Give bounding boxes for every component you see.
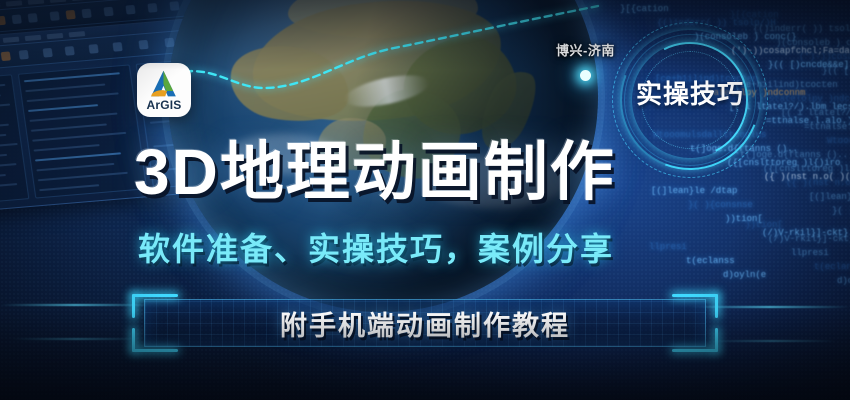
code-line: =ttnalse.l.alo.) concat( [804, 122, 850, 132]
code-line: ({[cnslttoreg )l{)iro [763, 164, 850, 174]
code-line: [( i ltatel?/).lbm lecssem [781, 108, 850, 118]
code-line: }[{cation [620, 4, 669, 14]
arcgis-wordmark: ArGIS [137, 98, 191, 112]
bottom-banner-label: 附手机端动画制作教程 [132, 294, 718, 352]
route-endpoint-marker [580, 70, 591, 81]
page-title: 3D地理动画制作 [134, 140, 734, 204]
badge-label: 实操技巧 [612, 74, 768, 111]
bottom-banner-box: 附手机端动画制作教程 [132, 294, 718, 352]
code-line: d)oyln(e [837, 276, 850, 286]
code-line: (/)V-rkil}]-ckt} wrttmar [768, 234, 850, 244]
poster-canvas: }[{cation{()inderr( )) tsoln/)H)(console… [0, 0, 850, 400]
code-line: llpresi [791, 248, 829, 258]
page-subtitle: 软件准备、实操技巧，案例分享 [138, 233, 728, 265]
code-line: ({ )(nst n.o( )(o. [786, 178, 850, 188]
code-line: )(consoleb ) conc(} [776, 38, 850, 48]
code-line: ))tion[ [745, 220, 783, 230]
arcgis-a-icon [137, 69, 190, 99]
code-line: }(( [)cncde&&e]l (l.thla [822, 66, 850, 76]
app-panel-table [18, 64, 147, 198]
arcgis-logo: ArGIS [137, 63, 191, 117]
code-line: d)oyln(e [723, 270, 766, 280]
code-line: }( ){consnse [832, 206, 850, 216]
code-line: Wtooomulsdallttcoplus [827, 136, 850, 146]
code-line: (')-))cosapfchcl;Fa=data6ad{ [799, 52, 850, 62]
code-line: [(]lean}le /dtap [809, 192, 850, 202]
code-line: ){statelolpy )ndconnm [758, 94, 850, 104]
route-label: 博兴-济南 [556, 40, 615, 59]
code-line: t(eclanss [814, 262, 850, 272]
code-line: }[{cation [730, 10, 779, 20]
